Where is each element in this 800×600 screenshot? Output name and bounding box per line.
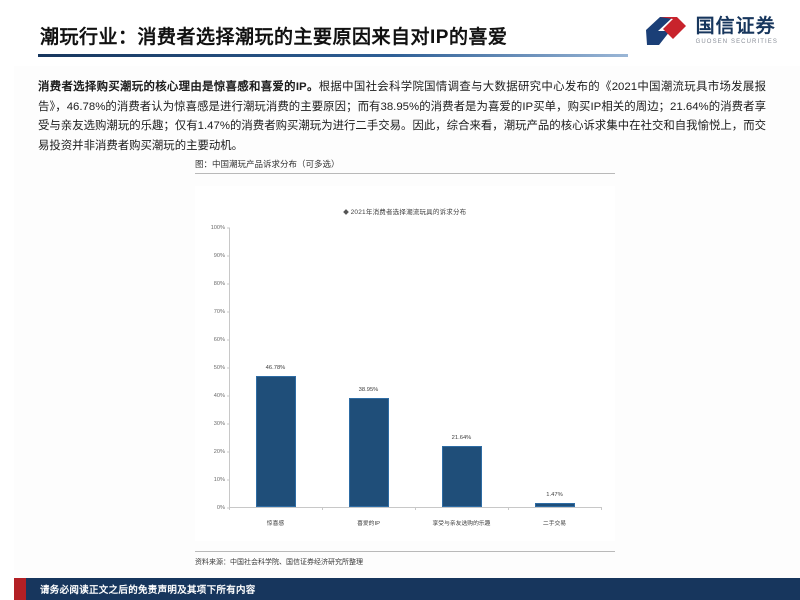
slide-footer: 请务必阅读正文之后的免责声明及其项下所有内容 [0,578,800,600]
bar-slot: 46.78% [229,228,322,507]
chart-title: 2021年消费者选择潮流玩具的诉求分布 [195,206,615,216]
page-title: 潮玩行业：消费者选择潮玩的主要原因来自对IP的喜爱 [40,22,507,49]
bar [256,376,296,507]
x-axis-label: 享受与亲友选购的乐趣 [415,518,508,527]
x-tick-mark [229,507,230,510]
body-paragraph: 消费者选择购买潮玩的核心理由是惊喜感和喜爱的IP。根据中国社会科学院国情调查与大… [38,78,766,156]
chart-plot-area: 100%90%80%70%60%50%40%30%20%10%0% 46.78%… [229,228,601,508]
bar-series: 46.78%38.95%21.64%1.47% [229,228,601,507]
x-axis-label: 惊喜感 [229,518,322,527]
figure-source: 资料来源：中国社会科学院、国信证券经济研究所整理 [195,551,615,567]
brand-text: 国信证券 GUOSEN SECURITIES [696,17,778,45]
bar [442,446,482,507]
bar-slot: 38.95% [322,228,415,507]
chart-title-text: 2021年消费者选择潮流玩具的诉求分布 [351,209,467,216]
x-axis-label: 二手交易 [508,518,601,527]
slide-header: 潮玩行业：消费者选择潮玩的主要原因来自对IP的喜爱 国信证券 GUOSEN SE… [0,0,800,66]
bar [535,503,575,507]
x-tick-mark [415,507,416,510]
slide: 潮玩行业：消费者选择潮玩的主要原因来自对IP的喜爱 国信证券 GUOSEN SE… [0,0,800,600]
footer-disclaimer: 请务必阅读正文之后的免责声明及其项下所有内容 [40,582,256,596]
bar [349,398,389,507]
x-axis-label: 喜爱的IP [322,518,415,527]
brand-name-cn: 国信证券 [696,17,778,36]
figure-block: 图：中国潮玩产品诉求分布（可多选） [195,158,615,174]
guosen-logo-icon [643,14,689,48]
x-tick-mark [601,507,602,510]
legend-marker-icon [343,209,349,215]
left-margin [0,0,14,600]
body-content: 消费者选择购买潮玩的核心理由是惊喜感和喜爱的IP。根据中国社会科学院国情调查与大… [38,78,766,156]
bar-slot: 1.47% [508,228,601,507]
figure-caption: 图：中国潮玩产品诉求分布（可多选） [195,158,615,174]
brand-name-en: GUOSEN SECURITIES [696,39,778,45]
bar-value-label: 1.47% [546,492,562,498]
body-lead: 消费者选择购买潮玩的核心理由是惊喜感和喜爱的IP。 [38,81,319,93]
bar-value-label: 46.78% [266,365,286,371]
x-axis-labels: 惊喜感喜爱的IP享受与亲友选购的乐趣二手交易 [229,518,601,527]
bar-slot: 21.64% [415,228,508,507]
x-tick-mark [508,507,509,510]
x-tick-mark [322,507,323,510]
title-divider [38,54,628,57]
brand-logo: 国信证券 GUOSEN SECURITIES [643,14,778,48]
bar-value-label: 21.64% [452,435,472,441]
chart-container: 2021年消费者选择潮流玩具的诉求分布 100%90%80%70%60%50%4… [195,186,615,541]
bar-value-label: 38.95% [359,387,379,393]
